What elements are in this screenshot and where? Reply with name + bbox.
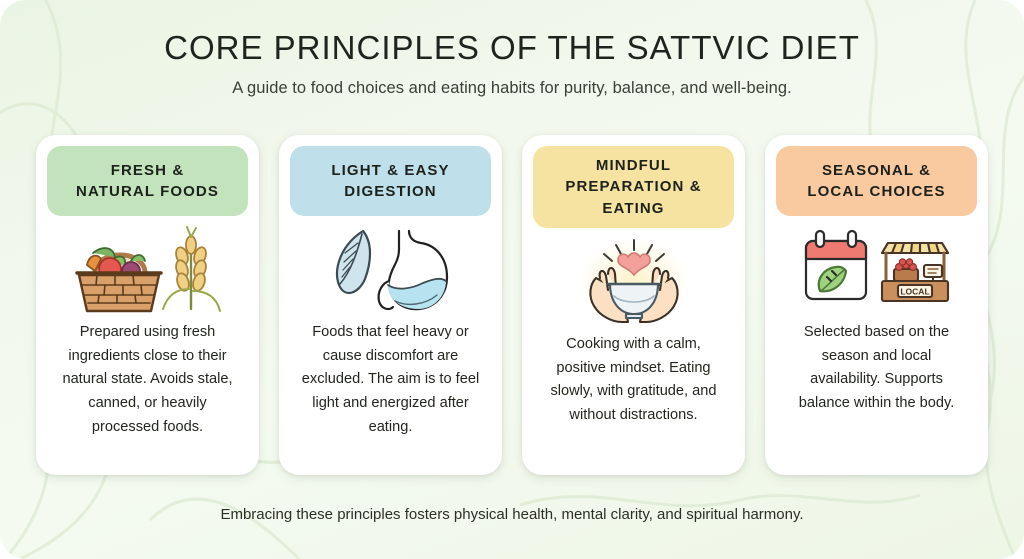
infographic-poster: CORE PRINCIPLES OF THE SATTVIC DIET A gu… [0,0,1024,559]
card-heading: LIGHT & EASY DIGESTION [331,160,449,203]
principle-card-fresh-natural-foods[interactable]: FRESH & NATURAL FOODS [36,135,259,475]
vegetable-basket-and-wheat-icon [63,223,233,315]
card-heading-line: LOCAL CHOICES [807,181,945,202]
card-icon-area [290,216,491,321]
card-banner: SEASONAL & LOCAL CHOICES [776,146,977,216]
card-heading: SEASONAL & LOCAL CHOICES [807,160,945,203]
stomach-and-feather-icon [321,223,461,315]
card-heading-line: DIGESTION [331,181,449,202]
card-heading: FRESH & NATURAL FOODS [76,160,219,203]
card-banner: LIGHT & EASY DIGESTION [290,146,491,216]
card-icon-area: LOCAL [776,216,977,321]
principle-card-light-easy-digestion[interactable]: LIGHT & EASY DIGESTION [279,135,502,475]
stall-sign-text: LOCAL [900,286,929,296]
card-body: Cooking with a calm, positive mindset. E… [533,333,734,428]
card-heading-line: EATING [565,198,701,219]
card-body: Prepared using fresh ingredients close t… [47,321,248,439]
card-heading-line: LIGHT & EASY [331,160,449,181]
card-icon-area [533,228,734,333]
card-heading: MINDFUL PREPARATION & EATING [565,155,701,219]
card-body: Selected based on the season and local a… [776,321,977,416]
card-icon-area [47,216,248,321]
principle-card-mindful-preparation-eating[interactable]: MINDFUL PREPARATION & EATING [522,135,745,475]
card-heading-line: PREPARATION & [565,176,701,197]
card-banner: FRESH & NATURAL FOODS [47,146,248,216]
poster-header: CORE PRINCIPLES OF THE SATTVIC DIET A gu… [0,0,1024,98]
card-heading-line: MINDFUL [565,155,701,176]
principle-card-seasonal-local-choices[interactable]: SEASONAL & LOCAL CHOICES [765,135,988,475]
page-subtitle: A guide to food choices and eating habit… [0,66,1024,98]
card-body: Foods that feel heavy or cause discomfor… [290,321,491,439]
page-title: CORE PRINCIPLES OF THE SATTVIC DIET [0,0,1024,66]
card-heading-line: NATURAL FOODS [76,181,219,202]
card-heading-line: SEASONAL & [807,160,945,181]
card-banner: MINDFUL PREPARATION & EATING [533,146,734,228]
principle-card-list: FRESH & NATURAL FOODS [36,135,988,475]
card-heading-line: FRESH & [76,160,219,181]
calendar-leaf-and-market-stall-icon: LOCAL [802,223,952,315]
hands-holding-bowl-with-heart-icon [570,234,698,328]
poster-footer: Embracing these principles fosters physi… [0,506,1024,523]
